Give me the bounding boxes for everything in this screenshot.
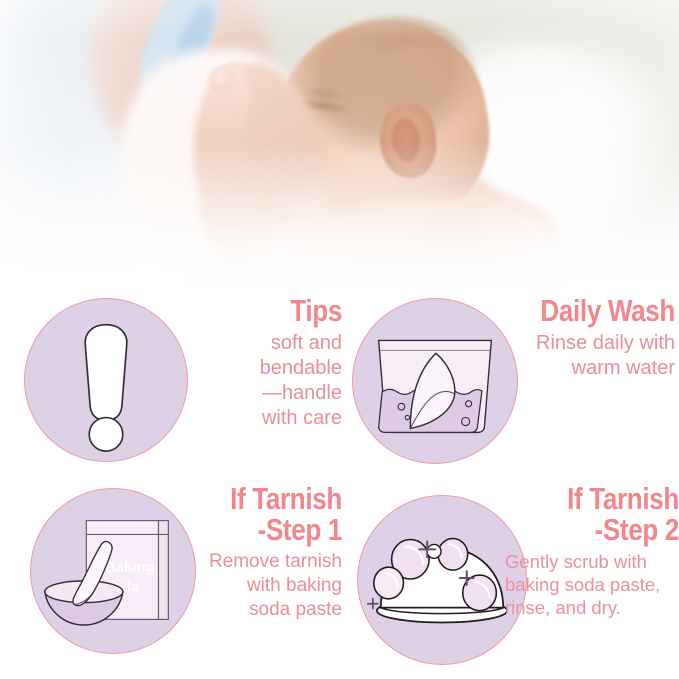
panel-if-tarnish-step-2: If Tarnish -Step 2 Gently scrub with bak… xyxy=(345,481,679,677)
panel-tips-text: Tips soft and bendable —handle with care xyxy=(190,295,342,431)
panel-daily-wash: Daily Wash Rinse daily with warm water xyxy=(345,289,679,479)
svg-text:Baking: Baking xyxy=(105,560,154,576)
panel-step-1-text: If Tarnish -Step 1 Remove tarnish with b… xyxy=(190,483,342,622)
panel-step-2-text: If Tarnish -Step 2 Gently scrub with bak… xyxy=(505,483,679,619)
care-instructions-grid: Tips soft and bendable —handle with care xyxy=(0,285,679,679)
panel-step-2-body: Gently scrub with baking soda paste, rin… xyxy=(505,550,679,619)
photo-bottom-fade xyxy=(0,142,679,290)
baking-soda-bowl-icon: Baking soda xyxy=(31,489,195,653)
panel-step-2-icon-circle xyxy=(357,495,527,665)
panel-if-tarnish-step-1: Baking soda If Tarnish -Step 1 Remove ta… xyxy=(14,481,344,677)
panel-daily-wash-text: Daily Wash Rinse daily with warm water xyxy=(485,295,675,381)
panel-daily-wash-body: Rinse daily with warm water xyxy=(485,331,675,381)
hero-photo xyxy=(0,0,679,290)
panel-step-2-title: If Tarnish -Step 2 xyxy=(518,483,679,545)
panel-step-1-body: Remove tarnish with baking soda paste xyxy=(190,550,342,622)
panel-tips-body: soft and bendable —handle with care xyxy=(190,331,342,431)
panel-tips-title: Tips xyxy=(214,295,342,326)
exclamation-mark-icon xyxy=(25,299,187,461)
scrubbing-bubbles-icon xyxy=(358,496,526,664)
panel-daily-wash-title: Daily Wash xyxy=(515,295,675,326)
panel-tips-icon-circle xyxy=(24,298,188,462)
panel-tips: Tips soft and bendable —handle with care xyxy=(14,289,344,479)
panel-step-1-title: If Tarnish -Step 1 xyxy=(214,483,342,545)
panel-step-1-icon-circle: Baking soda xyxy=(30,488,196,654)
